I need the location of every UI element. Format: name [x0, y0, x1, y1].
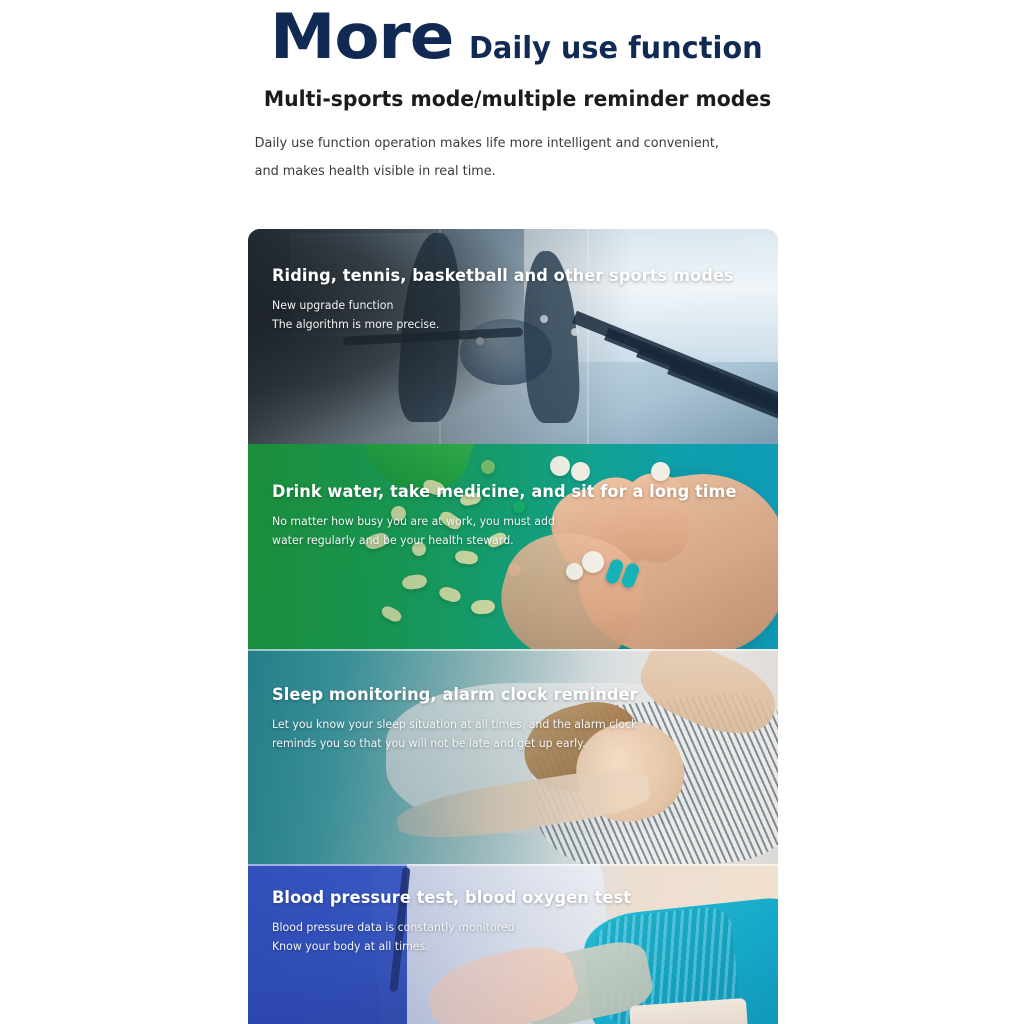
sleep-panel-title: Sleep monitoring, alarm clock reminder	[272, 685, 748, 704]
feature-panel-sleep[interactable]: Sleep monitoring, alarm clock reminder L…	[248, 649, 778, 864]
feature-panel-sports[interactable]: Riding, tennis, basketball and other spo…	[248, 229, 778, 444]
sports-panel-scrim	[248, 229, 778, 444]
page-header: More Daily use function Multi-sports mod…	[0, 0, 1024, 186]
page-description: Daily use function operation makes life …	[0, 129, 973, 186]
sleep-body-line-1: Let you know your sleep situation at all…	[272, 715, 743, 734]
feature-panel-blood-pressure[interactable]: Blood pressure test, blood oxygen test B…	[248, 864, 778, 1024]
feature-panel-water-medicine[interactable]: Drink water, take medicine, and sit for …	[248, 444, 778, 649]
page-title-accent: Daily use function	[469, 31, 763, 66]
water-body-line-1: No matter how busy you are at work, you …	[272, 512, 743, 531]
bp-panel-copy: Blood pressure test, blood oxygen test B…	[272, 888, 758, 957]
sports-body-line-2: The algorithm is more precise.	[272, 315, 743, 334]
water-panel-body: No matter how busy you are at work, you …	[272, 512, 743, 551]
page-title-main: More	[270, 4, 453, 69]
sports-panel-copy: Riding, tennis, basketball and other spo…	[272, 266, 758, 335]
sports-body-line-1: New upgrade function	[272, 296, 743, 315]
water-body-line-2: water regularly and be your health stewa…	[272, 531, 743, 550]
water-panel-title: Drink water, take medicine, and sit for …	[272, 482, 748, 501]
bp-body-line-1: Blood pressure data is constantly monito…	[272, 918, 743, 937]
sleep-body-line-2: reminds you so that you will not be late…	[272, 734, 743, 753]
feature-panel-stack: Riding, tennis, basketball and other spo…	[248, 229, 778, 1024]
sleep-panel-body: Let you know your sleep situation at all…	[272, 715, 743, 754]
page-headline: Multi-sports mode/multiple reminder mode…	[0, 87, 993, 111]
panel-divider-bp	[248, 864, 778, 866]
description-line-1: Daily use function operation makes life …	[255, 129, 973, 157]
bp-body-line-2: Know your body at all times.	[272, 937, 743, 956]
sleep-panel-copy: Sleep monitoring, alarm clock reminder L…	[272, 685, 758, 754]
bp-panel-body: Blood pressure data is constantly monito…	[272, 918, 743, 957]
sports-panel-body: New upgrade function The algorithm is mo…	[272, 296, 743, 335]
panel-divider-sleep	[248, 649, 778, 651]
water-panel-copy: Drink water, take medicine, and sit for …	[272, 482, 758, 551]
sports-panel-title: Riding, tennis, basketball and other spo…	[272, 266, 748, 285]
title-row: More Daily use function	[0, 0, 1024, 69]
description-line-2: and makes health visible in real time.	[255, 157, 973, 185]
bp-panel-title: Blood pressure test, blood oxygen test	[272, 888, 748, 907]
sleep-panel-scrim	[248, 649, 778, 864]
